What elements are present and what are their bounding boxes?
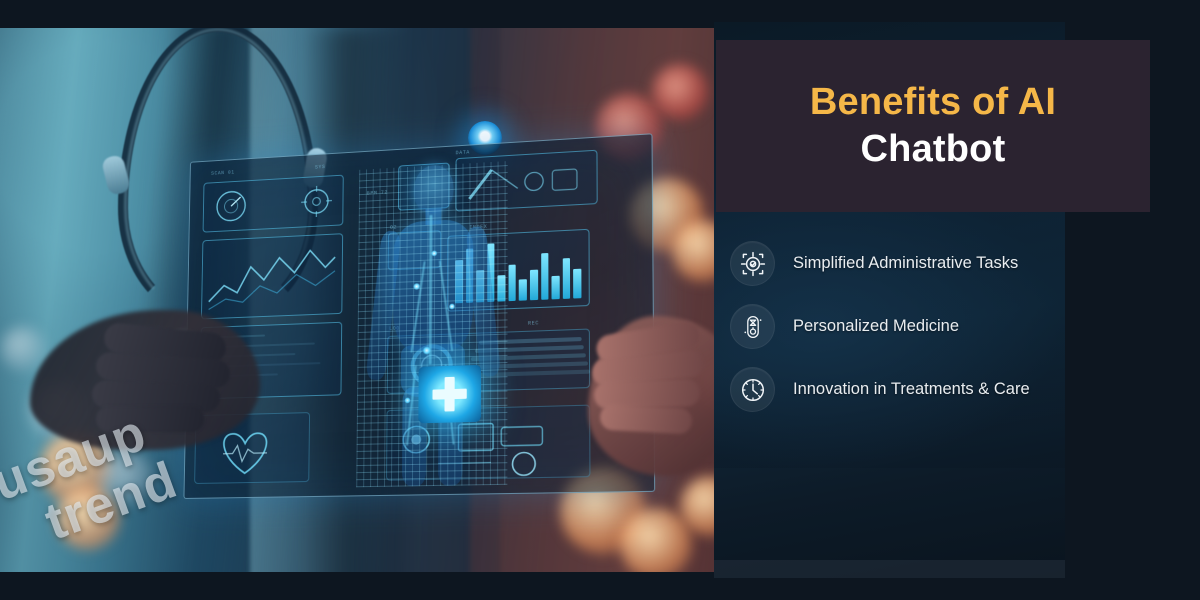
benefit-item-personalized-medicine[interactable]: Personalized Medicine — [714, 295, 1065, 358]
dna-capsule-icon — [730, 304, 775, 349]
holographic-tablet[interactable]: SCAN 01 SYS BPM 72 DATA INDEX O2 HR LOG … — [183, 133, 655, 499]
hud-label: REC — [528, 320, 539, 327]
hud-bar — [541, 253, 549, 299]
poster-canvas: SCAN 01 SYS BPM 72 DATA INDEX O2 HR LOG … — [0, 0, 1200, 600]
bokeh-light — [98, 450, 154, 506]
hologram-interface: SCAN 01 SYS BPM 72 DATA INDEX O2 HR LOG … — [184, 134, 654, 498]
wireframe-human-body — [356, 161, 507, 487]
bokeh-light — [0, 326, 46, 372]
medical-cross-icon — [418, 365, 481, 423]
finger — [96, 406, 204, 432]
body-mesh-overlay — [356, 161, 507, 487]
hud-label: DATA — [456, 149, 470, 156]
page-title-line-2: Chatbot — [861, 128, 1006, 171]
hud-gauge-icon — [210, 186, 254, 227]
benefits-list: Simplified Administrative Tasks Personal… — [714, 232, 1065, 421]
hud-bar — [508, 265, 516, 302]
title-card: Benefits of AI Chatbot — [716, 40, 1150, 212]
benefit-label: Innovation in Treatments & Care — [793, 377, 1030, 402]
finger — [599, 404, 692, 435]
hud-bar — [573, 269, 581, 299]
clock-icon — [730, 367, 775, 412]
hud-line-chart — [205, 237, 339, 315]
hud-bar — [530, 269, 538, 300]
benefit-label: Personalized Medicine — [793, 314, 959, 339]
target-check-icon — [730, 241, 775, 286]
hud-bar — [552, 275, 560, 299]
benefit-item-innovation-in-treatments-and-care[interactable]: Innovation in Treatments & Care — [714, 358, 1065, 421]
hud-label: SYS — [315, 164, 325, 170]
bokeh-light — [652, 64, 708, 120]
hud-settings-icon — [295, 181, 338, 222]
benefit-item-simplified-administrative-tasks[interactable]: Simplified Administrative Tasks — [714, 232, 1065, 295]
hud-bar — [563, 258, 571, 299]
bokeh-light — [620, 508, 692, 572]
hero-photo: SCAN 01 SYS BPM 72 DATA INDEX O2 HR LOG … — [0, 28, 714, 572]
panel-bottom-band — [714, 560, 1065, 578]
benefit-label: Simplified Administrative Tasks — [793, 251, 1018, 276]
hud-bar — [519, 279, 527, 300]
page-title-line-1: Benefits of AI — [810, 81, 1056, 124]
hud-label: SCAN 01 — [211, 170, 235, 177]
